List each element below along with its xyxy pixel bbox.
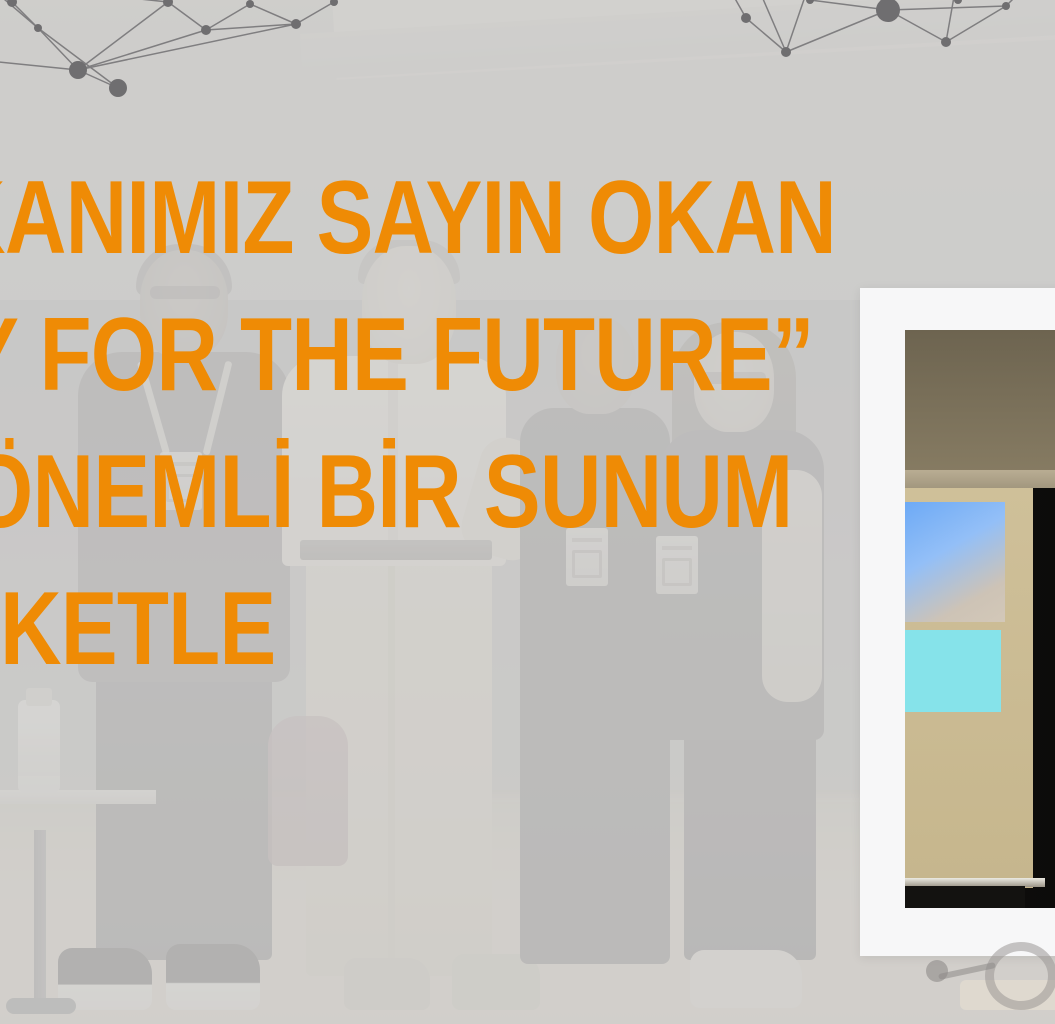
- photo-ceiling: [905, 330, 1055, 478]
- photo-slide-accent: [905, 630, 1001, 712]
- headline: ŞKANIMIZ SAYIN OKAN ITY FOR THE FUTURE” …: [0, 150, 708, 698]
- poster-canvas: ŞKANIMIZ SAYIN OKAN ITY FOR THE FUTURE” …: [0, 0, 1055, 1024]
- auditorium-photo: [905, 330, 1055, 908]
- headline-line-1: ŞKANIMIZ SAYIN OKAN: [0, 150, 708, 287]
- auditorium-photo-card: [860, 288, 1055, 956]
- photo-projection-screen: [905, 502, 1005, 622]
- clock-knob: [926, 960, 948, 982]
- headline-line-2: ITY FOR THE FUTURE”: [0, 287, 708, 424]
- headline-line-3: E ÖNEMLİ BİR SUNUM: [0, 424, 708, 561]
- network-constellation-graphic: [0, 0, 1055, 110]
- clock-icon: [985, 942, 1055, 1010]
- headline-line-4: LAKETLE: [0, 561, 708, 698]
- photo-stage-back: [905, 886, 1025, 908]
